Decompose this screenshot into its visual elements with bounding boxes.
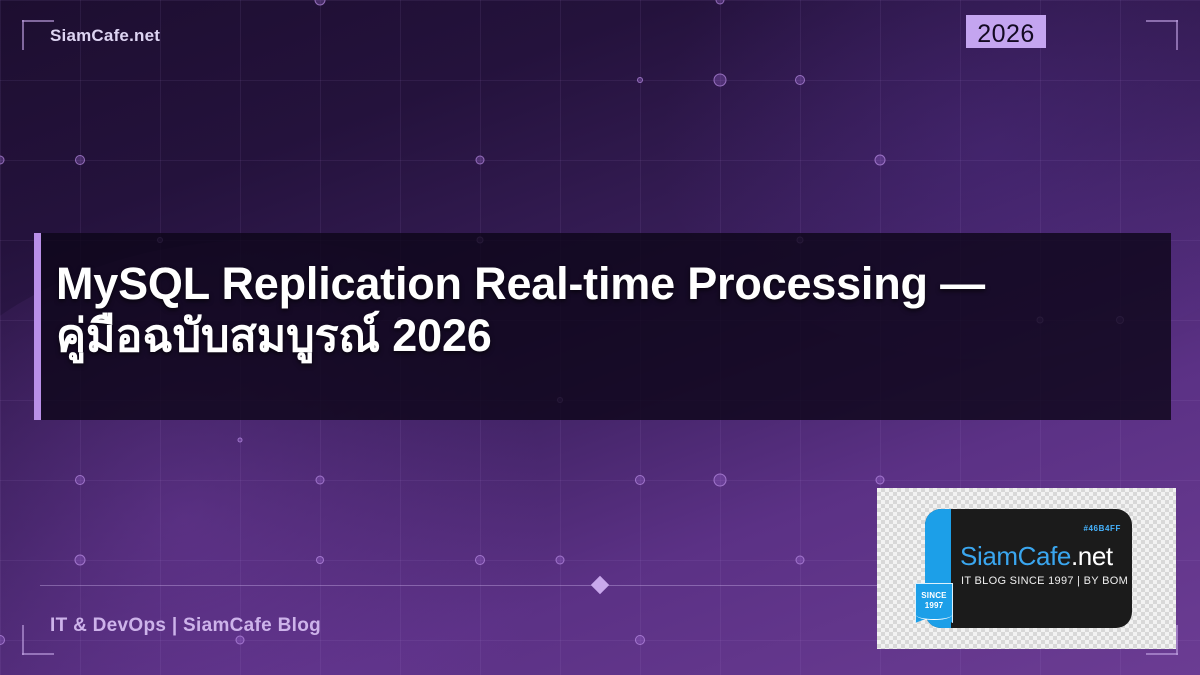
decor-dot [716, 0, 725, 5]
page-title: MySQL Replication Real-time Processing —… [56, 258, 1146, 362]
logo-wordmark-suffix: .net [1071, 541, 1113, 571]
title-accent-bar [34, 233, 41, 420]
slide-canvas: SiamCafe.net 2026 MySQL Replication Real… [0, 0, 1200, 675]
ribbon-swoosh-icon [916, 610, 952, 620]
decor-dot [796, 556, 805, 565]
ribbon-line-1: SINCE [915, 592, 953, 600]
logo-tagline: IT BLOG SINCE 1997 | BY BOM [961, 575, 1128, 587]
logo-wordmark-primary: SiamCafe [960, 541, 1071, 571]
decor-dot [635, 635, 645, 645]
decor-dot [75, 475, 85, 485]
decor-dot [795, 75, 805, 85]
since-ribbon-badge: SINCE 1997 [915, 583, 953, 629]
decor-dot [875, 155, 886, 166]
decor-dot [476, 156, 485, 165]
decor-dot [0, 156, 5, 165]
decor-dot [316, 476, 325, 485]
decor-dot [637, 77, 643, 83]
divider-diamond-marker [591, 576, 609, 594]
decor-dot [315, 0, 326, 6]
decor-dot [475, 555, 485, 565]
logo-wordmark: SiamCafe.net [960, 541, 1113, 572]
decor-dot [0, 635, 5, 645]
brand-wordmark: SiamCafe.net [50, 26, 160, 46]
decor-dot [876, 476, 885, 485]
decor-dot [635, 475, 645, 485]
logo-plate: #46B4FF SiamCafe.net IT BLOG SINCE 1997 … [925, 509, 1132, 628]
decor-dot [75, 555, 86, 566]
decor-dot [556, 556, 565, 565]
decor-dot [316, 556, 324, 564]
footer-caption: IT & DevOps | SiamCafe Blog [50, 615, 321, 637]
decor-dot [238, 438, 243, 443]
decor-dot [714, 74, 727, 87]
logo-hex-code: #46B4FF [1083, 524, 1121, 533]
logo-card: #46B4FF SiamCafe.net IT BLOG SINCE 1997 … [877, 488, 1176, 649]
ribbon-line-2: 1997 [915, 602, 953, 610]
year-badge: 2026 [966, 15, 1046, 48]
corner-bracket-top-right [1146, 20, 1178, 50]
year-badge-label: 2026 [977, 18, 1035, 51]
decor-dot [714, 474, 727, 487]
decor-dot [75, 155, 85, 165]
